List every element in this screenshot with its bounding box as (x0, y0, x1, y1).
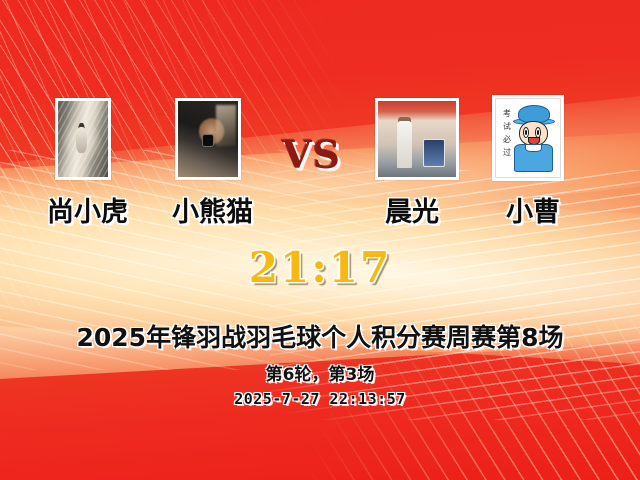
player-photo-xiaocao: 考试必过 (492, 95, 564, 181)
player-photo-shangxiaohu (55, 98, 111, 180)
photo-frame-inner (58, 101, 108, 177)
event-title: 2025年锋羽战羽毛球个人积分赛周赛第8场 (0, 318, 640, 354)
versus-label: VS (282, 132, 341, 177)
player-name-left-2: 小熊猫 (172, 198, 253, 228)
photo-frame-inner: 考试必过 (495, 98, 561, 178)
photo-frame-inner (378, 101, 456, 177)
collar-shape (525, 144, 542, 152)
scoreboard-screen: 考试必过 VS 尚小虎 小熊猫 晨光 小曹 21:17 2025年锋羽战羽毛球个… (0, 0, 640, 480)
player-photo-xiaoxiongmao (175, 98, 241, 180)
cartoon-caption-text: 考试必过 (501, 107, 513, 159)
cartoon-boy-figure (513, 105, 555, 172)
timestamp-label: 2025-7-27 22:13:57 (0, 390, 640, 408)
angel-statue-image (58, 101, 108, 177)
man-in-shop-image (378, 101, 456, 177)
player-name-left-1: 尚小虎 (47, 198, 128, 228)
player-photo-chenguang (375, 98, 459, 180)
round-label: 第6轮，第3场 (0, 360, 640, 385)
person-with-camera-image (178, 101, 238, 177)
player-name-right-2: 小曹 (506, 198, 560, 228)
player-name-right-1: 晨光 (385, 198, 439, 228)
match-score: 21:17 (0, 243, 640, 292)
cartoon-boy-image: 考试必过 (495, 98, 561, 178)
photo-frame-inner (178, 101, 238, 177)
